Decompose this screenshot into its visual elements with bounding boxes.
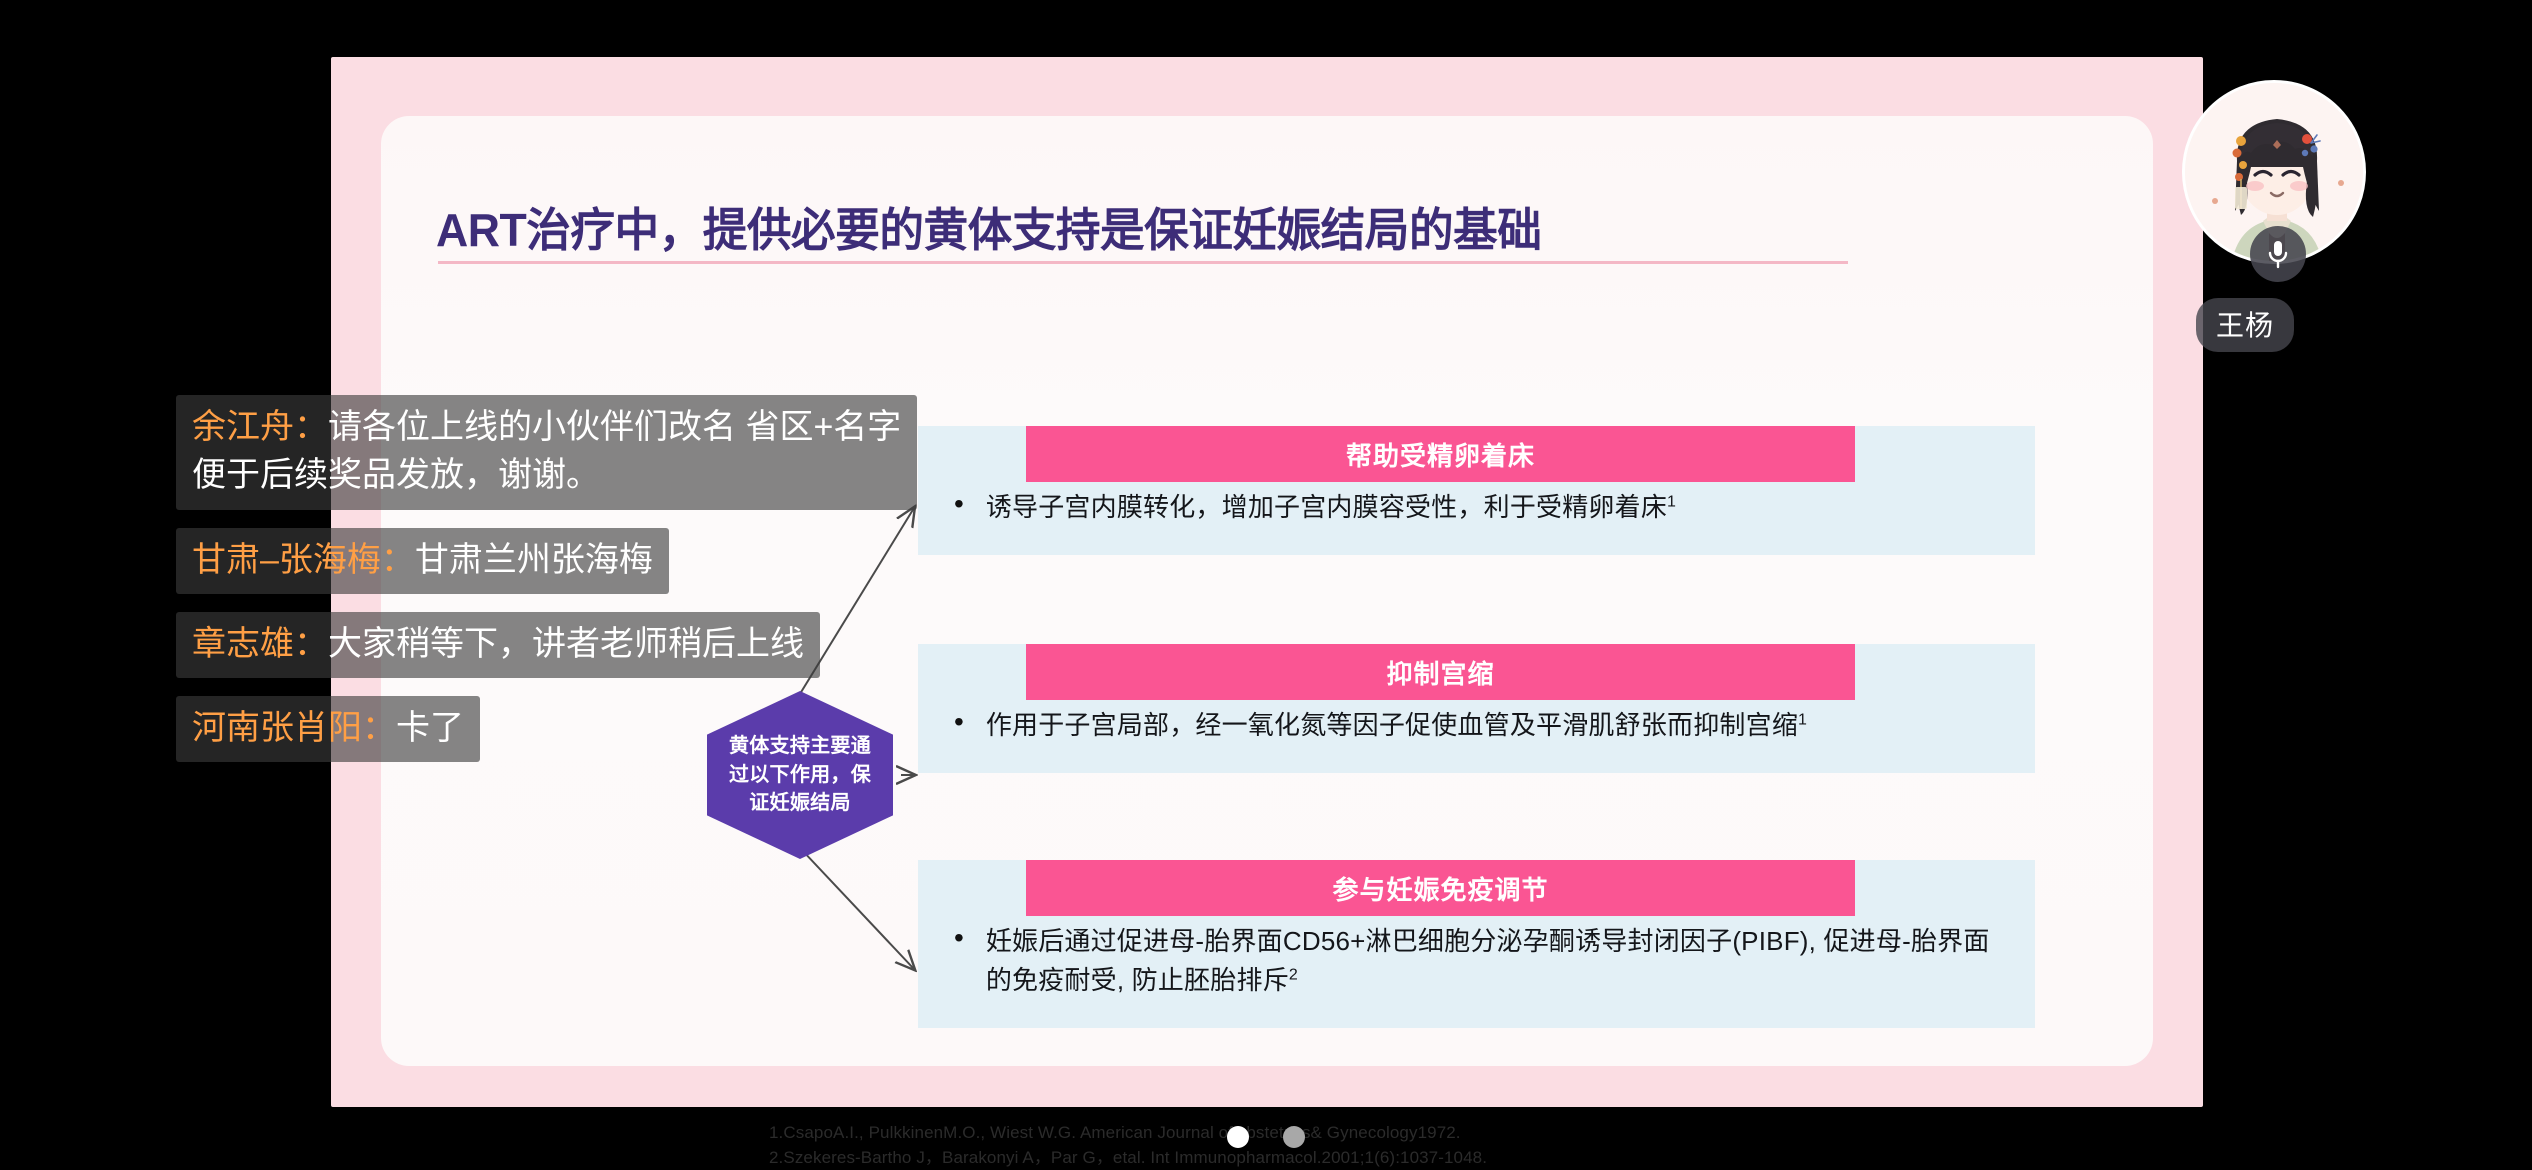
pagination-dots[interactable] xyxy=(1227,1126,1305,1148)
pagination-dot-1[interactable] xyxy=(1227,1126,1249,1148)
content-block-3-header: 参与妊娠免疫调节 xyxy=(1026,860,1855,916)
reference-superscript: 1 xyxy=(1798,711,1807,728)
bullet-text: 诱导子宫内膜转化，增加子宫内膜容受性，利于受精卵着床1 xyxy=(986,488,1676,527)
pagination-dot-2[interactable] xyxy=(1283,1126,1305,1148)
chat-message: 河南张肖阳：卡了 xyxy=(176,696,1010,780)
reference-line-1: 1.CsapoA.I., PulkkinenM.O., Wiest W.G. A… xyxy=(769,1121,1487,1146)
chat-message-bubble: 河南张肖阳：卡了 xyxy=(176,696,480,762)
speaker-name-badge: 王杨 xyxy=(2196,298,2294,352)
bullet-row: • 妊娠后通过促进母-胎界面CD56+淋巴细胞分泌孕酮诱导封闭因子(PIBF),… xyxy=(954,922,1999,1000)
chat-line: 余江舟：请各位上线的小伙伴们改名 省区+名字 xyxy=(192,403,901,451)
chat-message-bubble: 甘肃–张海梅：甘肃兰州张海梅 xyxy=(176,528,669,594)
chat-message-text: 甘肃兰州张海梅 xyxy=(415,541,653,579)
bullet-dot-icon: • xyxy=(954,920,964,955)
reference-superscript: 2 xyxy=(1289,966,1298,983)
chat-sender-name: 余江舟： xyxy=(192,408,328,446)
content-block-1: • 诱导子宫内膜转化，增加子宫内膜容受性，利于受精卵着床1 帮助受精卵着床 xyxy=(918,426,2035,555)
reference-line-2: 2.Szekeres-Bartho J，Barakonyi A，Par G，et… xyxy=(769,1146,1487,1170)
chat-overlay: 余江舟：请各位上线的小伙伴们改名 省区+名字 便于后续奖品发放，谢谢。 甘肃–张… xyxy=(0,395,1010,780)
reference-superscript: 1 xyxy=(1667,493,1676,510)
microphone-glyph xyxy=(2265,238,2291,270)
chat-sender-name: 章志雄： xyxy=(192,625,328,663)
microphone-icon[interactable] xyxy=(2250,226,2306,282)
bullet-text: 妊娠后通过促进母-胎界面CD56+淋巴细胞分泌孕酮诱导封闭因子(PIBF), 促… xyxy=(986,922,1999,1000)
content-block-1-header-label: 帮助受精卵着床 xyxy=(1346,436,1535,473)
chat-message-text: 请各位上线的小伙伴们改名 省区+名字 xyxy=(328,408,901,446)
presentation-viewer: ART治疗中，提供必要的黄体支持是保证妊娠结局的基础 黄体支持主要通过以下作用，… xyxy=(0,0,2532,1170)
content-block-1-header: 帮助受精卵着床 xyxy=(1026,426,1855,482)
chat-line: 便于后续奖品发放，谢谢。 xyxy=(192,451,901,499)
page-title: ART治疗中，提供必要的黄体支持是保证妊娠结局的基础 xyxy=(436,194,1541,260)
chat-line: 河南张肖阳：卡了 xyxy=(192,704,464,752)
bullet-text: 作用于子宫局部，经一氧化氮等因子促使血管及平滑肌舒张而抑制宫缩1 xyxy=(986,706,1807,745)
chat-message: 甘肃–张海梅：甘肃兰州张海梅 xyxy=(176,528,1010,612)
chat-message: 余江舟：请各位上线的小伙伴们改名 省区+名字 便于后续奖品发放，谢谢。 xyxy=(176,395,1010,528)
chat-sender-name: 甘肃–张海梅： xyxy=(192,541,415,579)
references-block: 1.CsapoA.I., PulkkinenM.O., Wiest W.G. A… xyxy=(769,1121,1487,1170)
content-block-2-header-label: 抑制宫缩 xyxy=(1386,654,1494,691)
chat-line: 章志雄：大家稍等下，讲者老师稍后上线 xyxy=(192,620,804,668)
content-block-3-header-label: 参与妊娠免疫调节 xyxy=(1332,870,1548,907)
chat-line: 甘肃–张海梅：甘肃兰州张海梅 xyxy=(192,536,653,584)
chat-message: 章志雄：大家稍等下，讲者老师稍后上线 xyxy=(176,612,1010,696)
chat-message-bubble: 余江舟：请各位上线的小伙伴们改名 省区+名字 便于后续奖品发放，谢谢。 xyxy=(176,395,917,510)
content-block-2-header: 抑制宫缩 xyxy=(1026,644,1855,700)
chat-message-text: 大家稍等下，讲者老师稍后上线 xyxy=(328,625,804,663)
bullet-row: • 作用于子宫局部，经一氧化氮等因子促使血管及平滑肌舒张而抑制宫缩1 xyxy=(954,706,1999,745)
chat-message-text: 卡了 xyxy=(396,709,464,747)
bullet-row: • 诱导子宫内膜转化，增加子宫内膜容受性，利于受精卵着床1 xyxy=(954,488,1999,527)
chat-message-bubble: 章志雄：大家稍等下，讲者老师稍后上线 xyxy=(176,612,820,678)
chat-sender-name: 河南张肖阳： xyxy=(192,709,396,747)
speaker-tile[interactable]: 王杨 xyxy=(2182,80,2390,360)
content-block-3: • 妊娠后通过促进母-胎界面CD56+淋巴细胞分泌孕酮诱导封闭因子(PIBF),… xyxy=(918,860,2035,1028)
content-block-2: • 作用于子宫局部，经一氧化氮等因子促使血管及平滑肌舒张而抑制宫缩1 抑制宫缩 xyxy=(918,644,2035,773)
title-underline xyxy=(438,261,1848,264)
